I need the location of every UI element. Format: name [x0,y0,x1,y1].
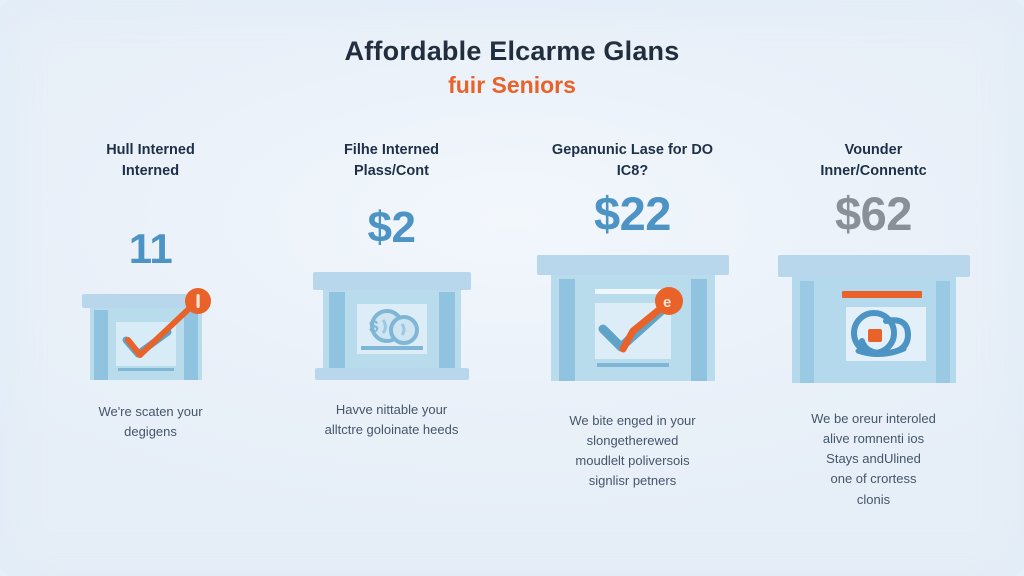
info-column-3: Gepanunic Lase for DO IC8? $22 [512,140,753,492]
svg-text:$: $ [369,317,379,336]
column-body-3: We bite enged in your slongetherewed mou… [569,411,695,492]
storefront-growth-check-icon: e [533,245,733,397]
column-body-4: We be oreur interoled alive romnenti ios… [811,409,936,510]
info-column-1: Hull Interned Interned 11 [30,140,271,442]
page-title: Affordable Elcarme Glans [0,36,1024,68]
column-heading-4: Vounder Inner/Connentc [820,140,926,184]
stat-block-1: 11 [38,228,263,388]
info-column-2: Filhe Interned Plass/Cont $2 $ [271,140,512,440]
stat-value-2: $2 [368,206,416,250]
column-body-2: Havve nittable your alltctre goloinate h… [325,400,459,440]
column-heading-1: Hull Interned Interned [106,140,195,184]
stat-block-4: $62 [761,190,986,395]
stat-block-3: $22 e [520,190,745,397]
column-heading-3: Gepanunic Lase for DO IC8? [552,140,713,184]
title-block: Affordable Elcarme Glans fuir Seniors [0,36,1024,101]
storefront-check-arrow-icon [76,278,226,388]
column-body-1: We're scaten your degigens [98,402,202,442]
storefront-eyeglasses-icon [774,247,974,395]
stat-block-2: $2 $ [279,206,504,386]
infographic-canvas: Affordable Elcarme Glans fuir Seniors Hu… [0,0,1024,576]
info-column-4: Vounder Inner/Connentc $62 [753,140,994,510]
stat-value-1: 11 [129,228,172,270]
column-heading-2: Filhe Interned Plass/Cont [344,140,439,184]
storefront-money-icon: $ [307,258,477,386]
svg-text:e: e [663,294,671,311]
stat-value-4: $62 [835,190,912,237]
stat-value-3: $22 [594,190,671,237]
columns-container: Hull Interned Interned 11 [30,140,994,510]
page-subtitle: fuir Seniors [0,71,1024,101]
